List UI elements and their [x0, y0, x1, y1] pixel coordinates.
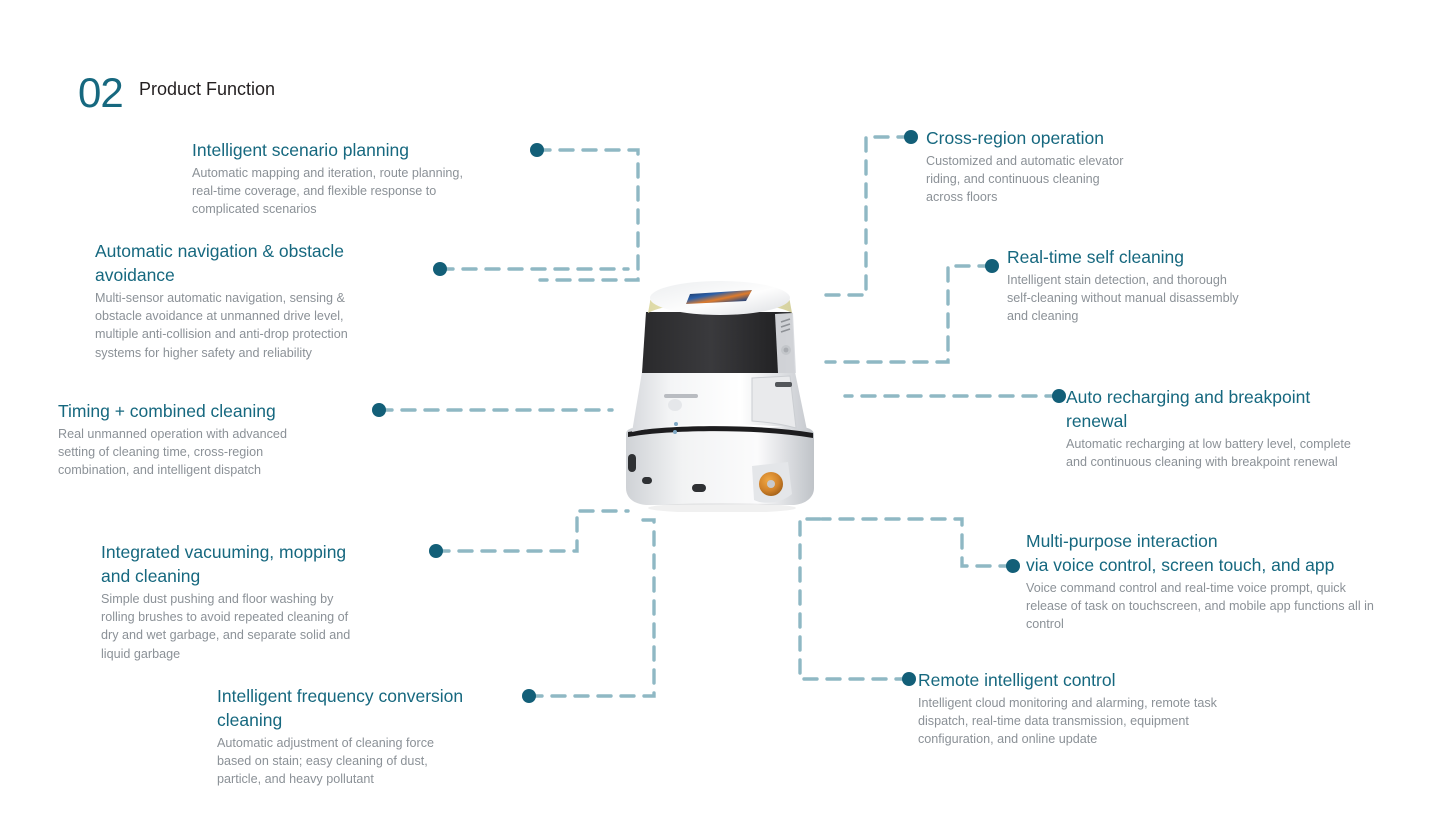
feature-title: Real-time self cleaning	[1007, 245, 1337, 269]
robot-foot-2	[692, 484, 706, 492]
robot-side-panel	[775, 313, 796, 373]
cleaning-robot-image	[612, 272, 827, 512]
robot-sensor-dome	[668, 399, 682, 411]
slide-canvas: 02 Product Function	[0, 0, 1445, 813]
feature-remote-intelligent-control[interactable]: Remote intelligent control Intelligent c…	[918, 668, 1313, 749]
wire-intelligent-scenario-planning	[537, 150, 638, 280]
feature-body: Simple dust pushing and floor washing by…	[101, 590, 416, 663]
wire-real-time-self-cleaning	[826, 266, 992, 362]
robot-handle-slot	[664, 394, 698, 398]
feature-auto-recharging-breakpoint-renewal[interactable]: Auto recharging and breakpoint renewal A…	[1066, 385, 1436, 471]
feature-title: Automatic navigation & obstacle avoidanc…	[95, 239, 407, 287]
robot-foot-1	[642, 477, 652, 484]
node-cross-region-operation	[904, 130, 918, 144]
feature-body: Intelligent stain detection, and thoroug…	[1007, 271, 1337, 326]
feature-title: Intelligent frequency conversion cleanin…	[217, 684, 527, 732]
robot-led-bottom	[673, 430, 677, 434]
node-remote-intelligent-control	[902, 672, 916, 686]
feature-body: Automatic recharging at low battery leve…	[1066, 435, 1436, 471]
node-integrated-vacuuming	[429, 544, 443, 558]
feature-body: Automatic adjustment of cleaning force b…	[217, 734, 527, 789]
feature-cross-region-operation[interactable]: Cross-region operation Customized and au…	[926, 126, 1226, 207]
robot-hatch-vent	[775, 382, 792, 387]
feature-title: Auto recharging and breakpoint renewal	[1066, 385, 1436, 433]
feature-timing-combined-cleaning[interactable]: Timing + combined cleaning Real unmanned…	[58, 399, 358, 480]
wire-cross-region-operation	[820, 137, 911, 295]
wire-remote-intelligent-control	[800, 519, 909, 679]
feature-integrated-vacuuming-mopping-cleaning[interactable]: Integrated vacuuming, mopping and cleani…	[101, 540, 416, 663]
feature-body: Multi-sensor automatic navigation, sensi…	[95, 289, 407, 362]
feature-body: Real unmanned operation with advanced se…	[58, 425, 358, 480]
feature-title: Remote intelligent control	[918, 668, 1313, 692]
node-real-time-self-cleaning	[985, 259, 999, 273]
feature-real-time-self-cleaning[interactable]: Real-time self cleaning Intelligent stai…	[1007, 245, 1337, 326]
robot-side-button-inner	[784, 348, 789, 353]
node-multi-purpose-interaction	[1006, 559, 1020, 573]
feature-title: Multi-purpose interaction via voice cont…	[1026, 529, 1441, 577]
feature-body: Customized and automatic elevator riding…	[926, 152, 1226, 207]
node-intelligent-scenario-planning	[530, 143, 544, 157]
feature-title: Integrated vacuuming, mopping and cleani…	[101, 540, 416, 588]
feature-body: Intelligent cloud monitoring and alarmin…	[918, 694, 1313, 749]
robot-led-top	[674, 422, 678, 426]
feature-intelligent-scenario-planning[interactable]: Intelligent scenario planning Automatic …	[192, 138, 522, 219]
feature-title: Timing + combined cleaning	[58, 399, 358, 423]
feature-title: Intelligent scenario planning	[192, 138, 522, 162]
node-timing-combined-cleaning	[372, 403, 386, 417]
node-automatic-navigation	[433, 262, 447, 276]
feature-title: Cross-region operation	[926, 126, 1226, 150]
robot-sensor-band	[642, 312, 795, 373]
feature-automatic-navigation-obstacle-avoidance[interactable]: Automatic navigation & obstacle avoidanc…	[95, 239, 407, 362]
feature-intelligent-frequency-conversion-cleaning[interactable]: Intelligent frequency conversion cleanin…	[217, 684, 527, 789]
wire-intelligent-frequency-conversion	[529, 520, 654, 696]
node-auto-recharging	[1052, 389, 1066, 403]
wire-integrated-vacuuming	[436, 511, 628, 551]
robot-wheel-hub	[767, 480, 775, 488]
feature-body: Voice command control and real-time voic…	[1026, 579, 1441, 634]
feature-multi-purpose-interaction[interactable]: Multi-purpose interaction via voice cont…	[1026, 529, 1441, 634]
feature-body: Automatic mapping and iteration, route p…	[192, 164, 522, 219]
wire-multi-purpose-interaction	[822, 519, 1013, 566]
robot-foot-left	[628, 454, 636, 472]
